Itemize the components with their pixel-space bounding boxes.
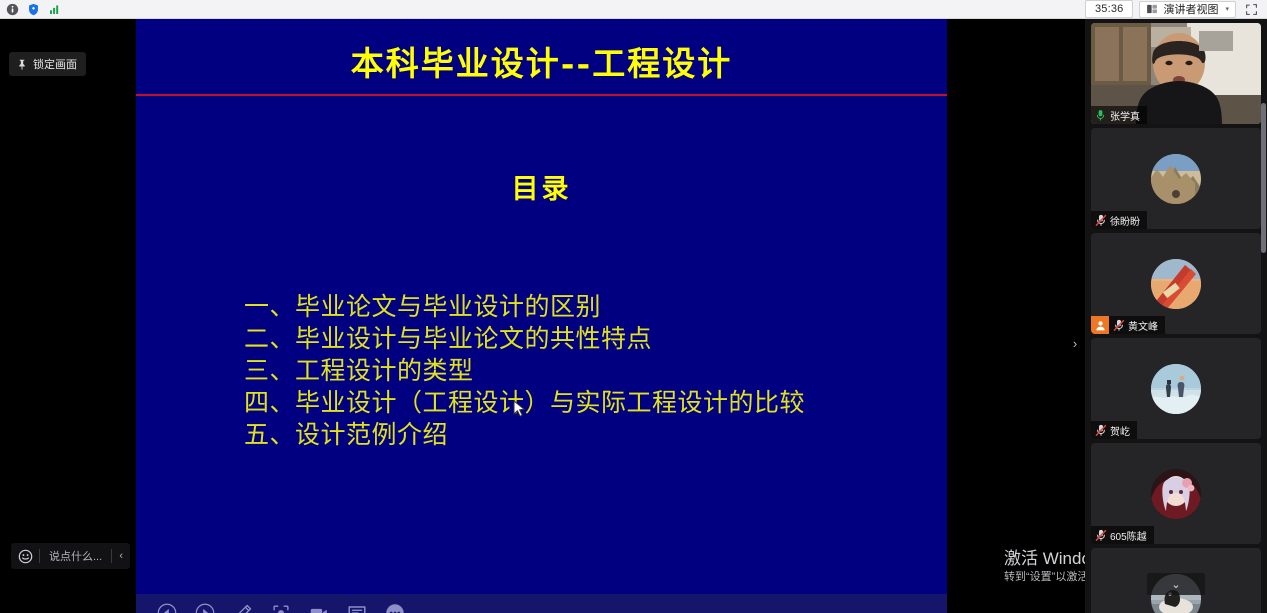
participant-badges: 贺屹 bbox=[1091, 421, 1137, 439]
avatar bbox=[1151, 469, 1201, 519]
toc-item: 一、毕业论文与毕业设计的区别 bbox=[244, 291, 944, 323]
participant-name: 605陈越 bbox=[1110, 528, 1154, 543]
fullscreen-button[interactable] bbox=[1242, 1, 1260, 17]
participant-tile[interactable]: 黄文峰 bbox=[1091, 233, 1261, 334]
avatar bbox=[1151, 259, 1201, 309]
mic-muted-icon bbox=[1091, 526, 1110, 544]
participant-badges: 黄文峰 bbox=[1091, 316, 1165, 334]
toc-item: 五、设计范例介绍 bbox=[244, 419, 944, 451]
toc-item: 三、工程设计的类型 bbox=[244, 355, 944, 387]
mic-muted-icon bbox=[1091, 211, 1110, 229]
info-icon[interactable] bbox=[4, 2, 21, 17]
participants-panel[interactable]: 张学真 徐盼盼 bbox=[1085, 19, 1267, 613]
participant-name: 张学真 bbox=[1110, 108, 1147, 123]
toc-item: 二、毕业设计与毕业论文的共性特点 bbox=[244, 323, 944, 355]
pin-icon bbox=[16, 58, 28, 71]
browser-extension-icons bbox=[0, 2, 63, 17]
presentation-slide[interactable]: 本科毕业设计--工程设计 目录 一、毕业论文与毕业设计的区别 二、毕业设计与毕业… bbox=[136, 19, 947, 594]
avatar bbox=[1151, 364, 1201, 414]
presenter-view-icon bbox=[1146, 3, 1158, 15]
participants-scrollbar[interactable] bbox=[1261, 103, 1266, 253]
emoji-icon[interactable] bbox=[11, 543, 39, 569]
chevron-down-icon[interactable]: ▾ bbox=[1225, 5, 1229, 13]
participant-name: 黄文峰 bbox=[1128, 318, 1165, 333]
participant-name: 徐盼盼 bbox=[1110, 213, 1147, 228]
participant-tile[interactable]: 贺屹 bbox=[1091, 338, 1261, 439]
participant-tile[interactable]: 张学真 bbox=[1091, 23, 1261, 124]
mic-on-icon bbox=[1091, 106, 1110, 124]
scroll-down-icon[interactable]: ⌄ bbox=[1147, 573, 1205, 595]
laser-pointer-icon[interactable] bbox=[268, 600, 294, 613]
prev-slide-icon[interactable] bbox=[154, 600, 180, 613]
participant-badges: 张学真 bbox=[1091, 106, 1147, 124]
mic-muted-icon bbox=[1091, 421, 1110, 439]
meeting-screen-share-window: 35:36 演讲者视图 ▾ 本科毕业设计--工程设计 目录 一、毕业论文与毕业设… bbox=[0, 0, 1267, 613]
slide-controls-toolbar bbox=[136, 594, 947, 613]
participant-badges: 徐盼盼 bbox=[1091, 211, 1147, 229]
host-icon bbox=[1091, 316, 1109, 334]
toc-item: 四、毕业设计（工程设计）与实际工程设计的比较 bbox=[244, 387, 944, 419]
panel-collapse-icon[interactable]: › bbox=[1069, 332, 1081, 354]
shared-screen-stage: 本科毕业设计--工程设计 目录 一、毕业论文与毕业设计的区别 二、毕业设计与毕业… bbox=[0, 19, 1085, 613]
camera-icon[interactable] bbox=[306, 600, 332, 613]
chat-collapse-icon[interactable]: ‹ bbox=[112, 543, 130, 569]
pen-icon[interactable] bbox=[230, 600, 256, 613]
slide-subtitle: 目录 bbox=[136, 167, 947, 206]
table-of-contents: 一、毕业论文与毕业设计的区别 二、毕业设计与毕业论文的共性特点 三、工程设计的类… bbox=[244, 291, 944, 451]
shield-icon[interactable] bbox=[25, 2, 42, 17]
more-options-icon[interactable] bbox=[382, 600, 408, 613]
meeting-timer: 35:36 bbox=[1085, 0, 1134, 18]
chat-icon[interactable] bbox=[344, 600, 370, 613]
browser-toolbar: 35:36 演讲者视图 ▾ bbox=[0, 0, 1267, 19]
next-slide-icon[interactable] bbox=[192, 600, 218, 613]
avatar bbox=[1151, 154, 1201, 204]
participant-name: 贺屹 bbox=[1110, 423, 1137, 438]
signal-bars-icon[interactable] bbox=[46, 2, 63, 17]
lock-screen-button[interactable]: 锁定画面 bbox=[9, 52, 86, 76]
participant-tile[interactable]: 徐盼盼 bbox=[1091, 128, 1261, 229]
presenter-view-button[interactable]: 演讲者视图 ▾ bbox=[1139, 1, 1236, 18]
participant-tile[interactable]: 605陈越 bbox=[1091, 443, 1261, 544]
mic-muted-icon bbox=[1109, 316, 1128, 334]
slide-title: 本科毕业设计--工程设计 bbox=[136, 37, 947, 85]
chat-input-placeholder[interactable]: 说点什么... bbox=[40, 548, 111, 564]
title-divider bbox=[136, 94, 947, 96]
presenter-view-label: 演讲者视图 bbox=[1163, 1, 1218, 17]
lock-screen-label: 锁定画面 bbox=[33, 56, 77, 72]
participant-badges: 605陈越 bbox=[1091, 526, 1154, 544]
chat-input-bar[interactable]: 说点什么... ‹ bbox=[11, 543, 130, 569]
